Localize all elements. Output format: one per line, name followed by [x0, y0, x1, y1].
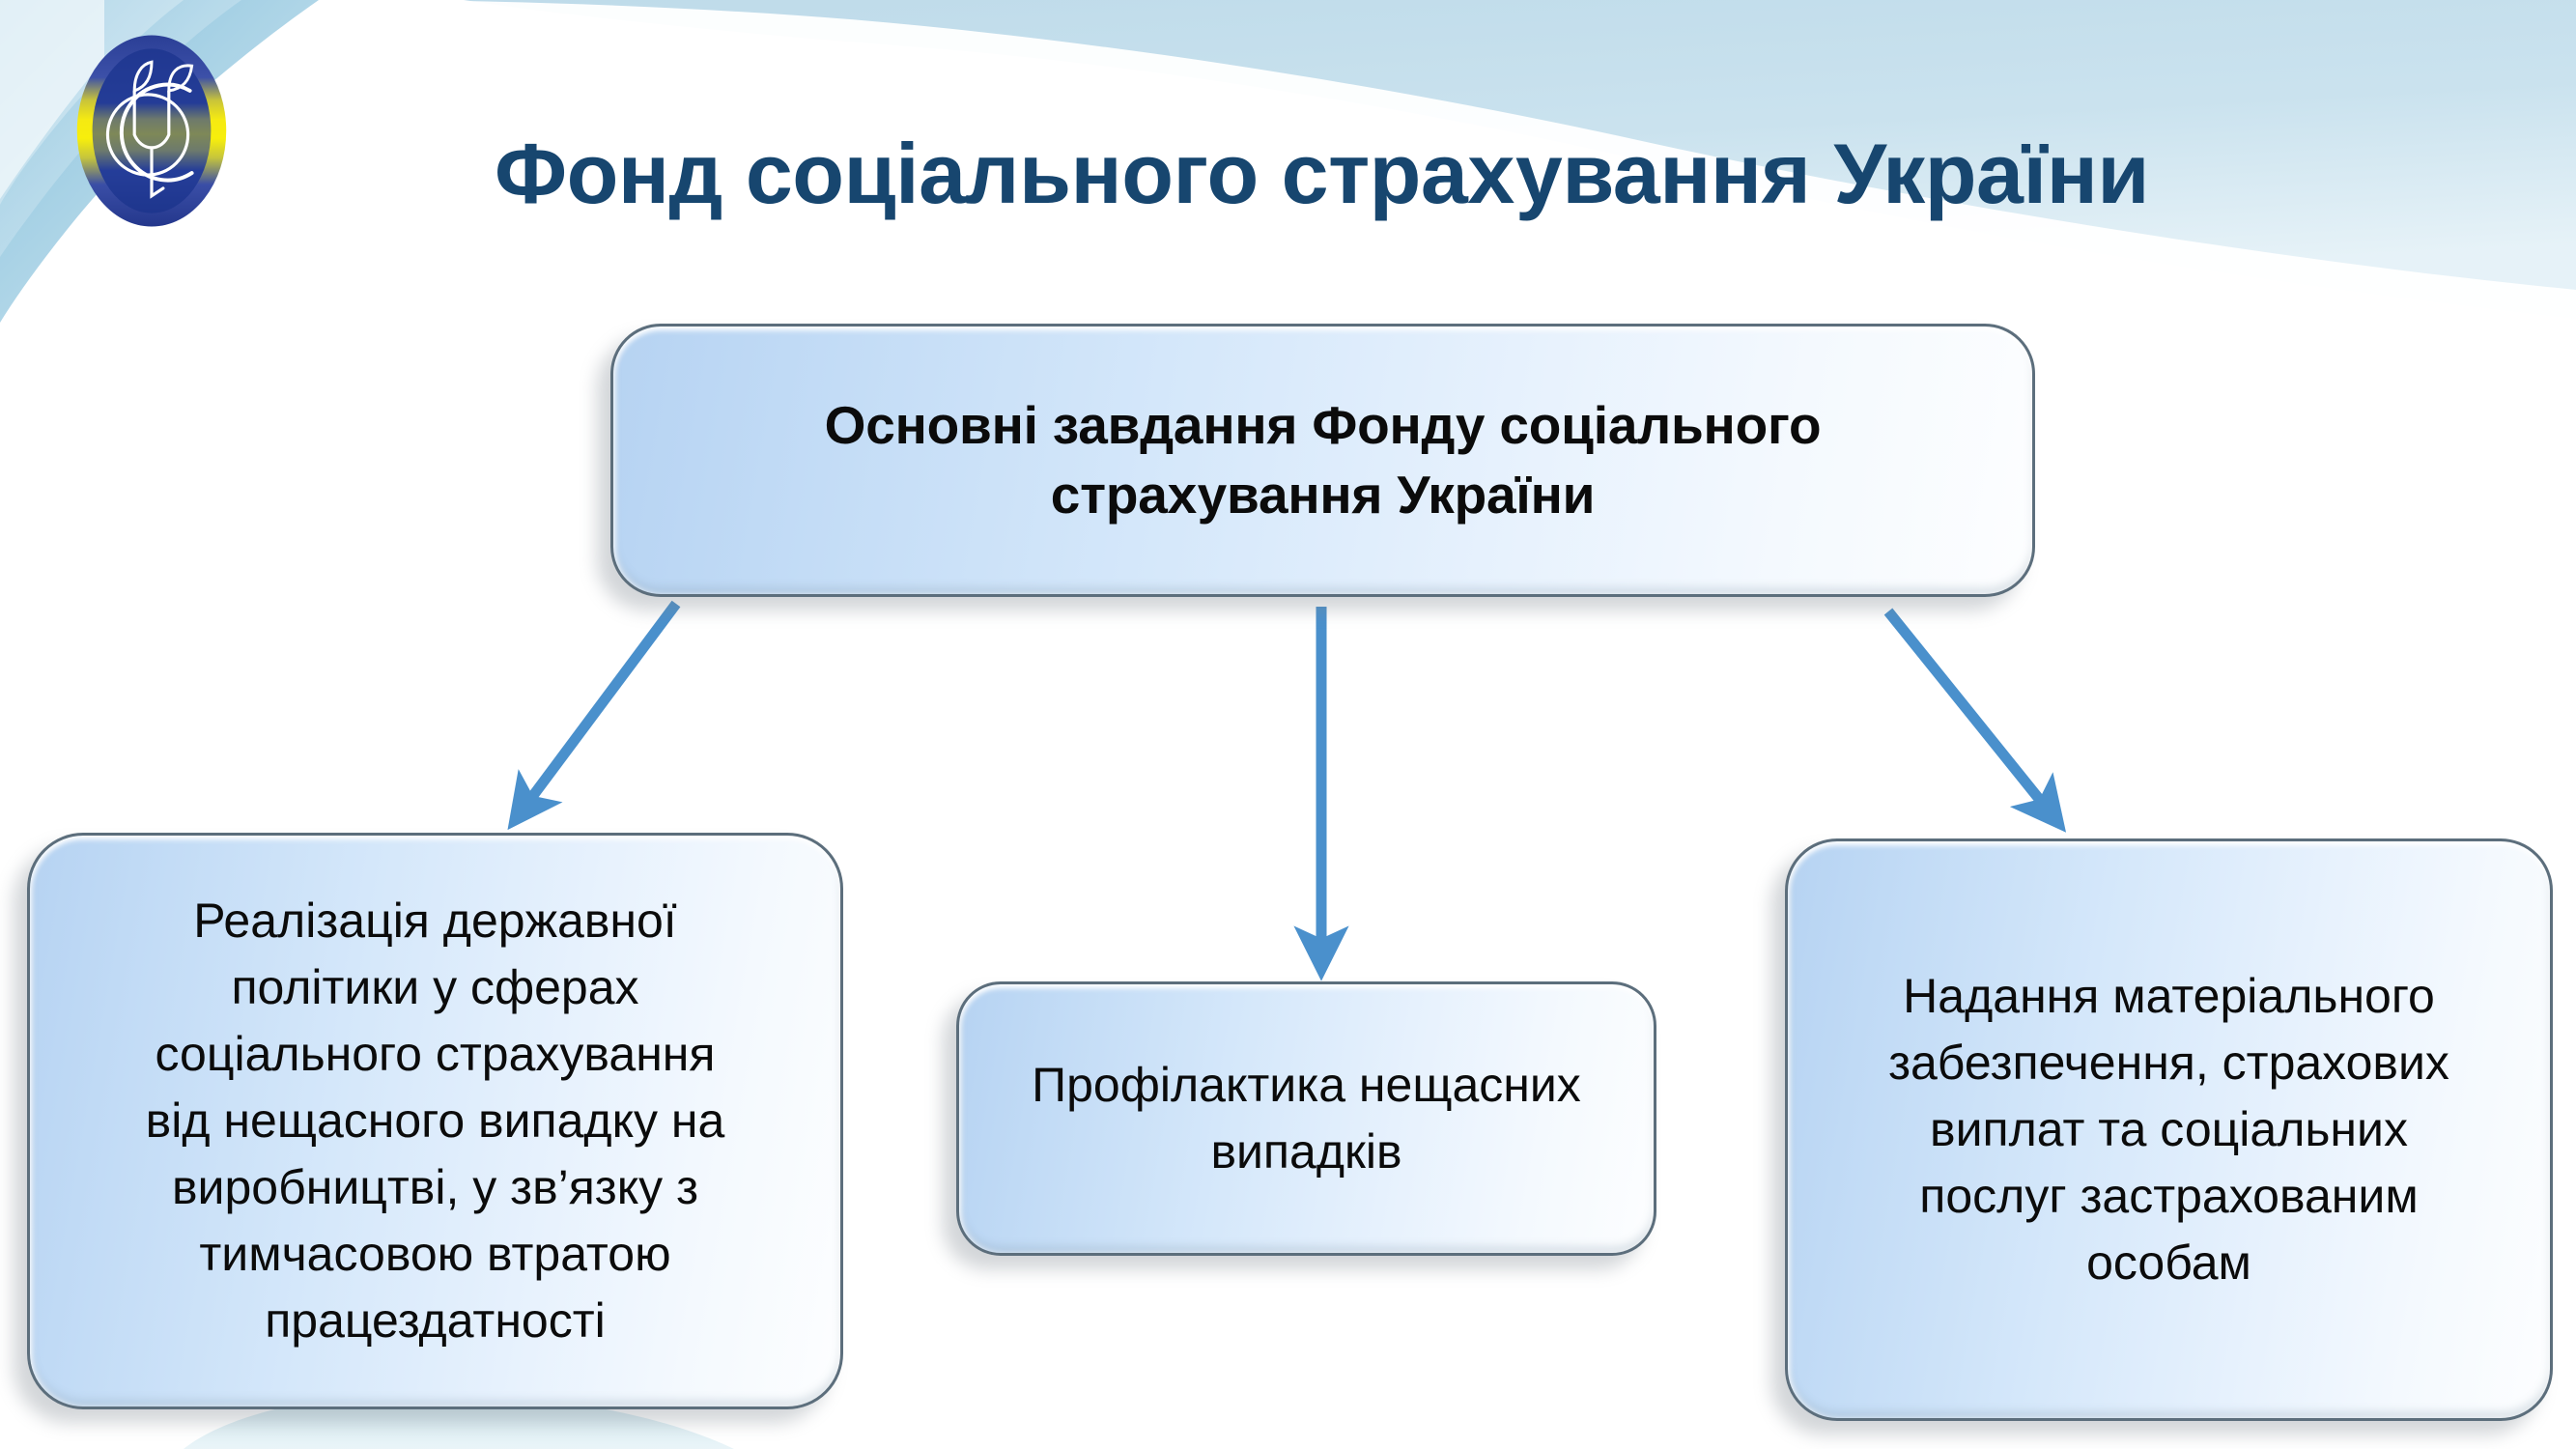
node-state-policy[interactable]: Реалізація державної політики у сферах с… [27, 833, 843, 1409]
fund-emblem-logo [56, 27, 247, 235]
arrow-root-to-left [518, 604, 676, 816]
node-left-label: Реалізація державної політики у сферах с… [101, 888, 770, 1354]
title-bar: Фонд соціального страхування України [0, 106, 2576, 241]
node-center-label: Профілактика нещасних випадків [999, 1052, 1614, 1185]
node-accident-prevention[interactable]: Профілактика нещасних випадків [956, 981, 1656, 1256]
node-right-label: Надання матеріального забезпечення, стра… [1850, 963, 2488, 1296]
node-main-label: Основні завдання Фонду соціального страх… [792, 391, 1854, 529]
page-title: Фонд соціального страхування України [427, 131, 2149, 216]
node-main-tasks[interactable]: Основні завдання Фонду соціального страх… [610, 324, 2035, 597]
arrow-root-to-right [1888, 611, 2055, 819]
node-material-support[interactable]: Надання матеріального забезпечення, стра… [1785, 838, 2553, 1421]
